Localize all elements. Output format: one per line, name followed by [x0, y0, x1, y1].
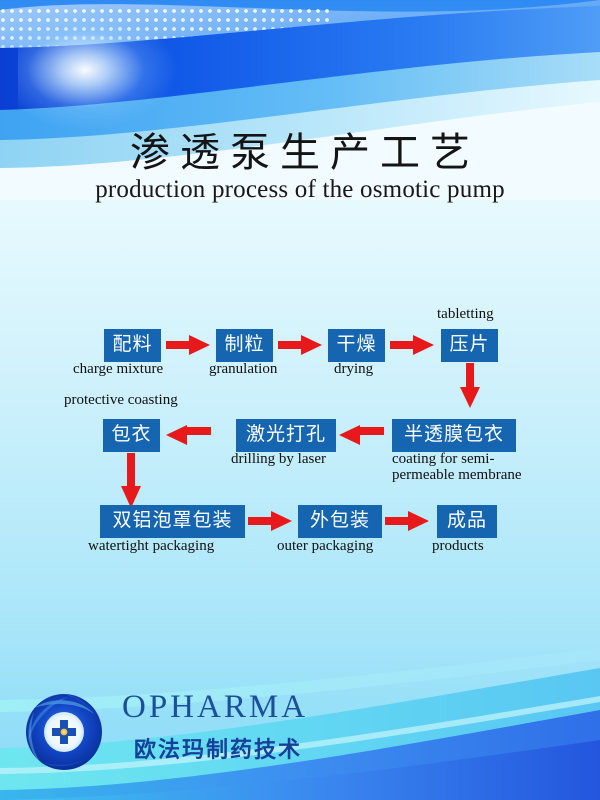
- caption-products: products: [432, 539, 484, 555]
- arrow-n8-n9: [248, 511, 292, 531]
- caption-charge-mixture: charge mixture: [73, 362, 163, 378]
- arrow-n5-n6: [339, 425, 384, 445]
- flow-node-drying[interactable]: 干燥: [328, 329, 385, 362]
- caption-protective-coating: protective coasting: [64, 393, 178, 409]
- arrow-n1-n2: [166, 335, 210, 355]
- caption-watertight-packaging: watertight packaging: [88, 539, 214, 555]
- flow-node-outer-packaging[interactable]: 外包装: [298, 505, 382, 538]
- flow-node-watertight-packaging[interactable]: 双铝泡罩包装: [100, 505, 245, 538]
- flow-node-granulation[interactable]: 制粒: [216, 329, 273, 362]
- caption-laser-drilling: drilling by laser: [231, 452, 326, 468]
- caption-outer-packaging: outer packaging: [277, 539, 373, 555]
- arrow-n2-n3: [278, 335, 322, 355]
- poster-canvas: 渗透泵生产工艺 production process of the osmoti…: [0, 0, 600, 800]
- caption-tabletting: tabletting: [437, 307, 494, 323]
- flow-node-products[interactable]: 成品: [437, 505, 497, 538]
- arrow-n4-n5: [460, 363, 480, 408]
- flow-node-tabletting[interactable]: 压片: [441, 329, 498, 362]
- brand-name-chinese: 欧法玛制药技术: [134, 732, 302, 764]
- flow-node-semipermeable-coating[interactable]: 半透膜包衣: [392, 419, 516, 452]
- caption-semipermeable-coating-line2: permeable membrane: [392, 468, 522, 484]
- caption-drying: drying: [334, 362, 373, 378]
- brand-name-english: OPHARMA: [122, 689, 308, 726]
- flow-node-protective-coating[interactable]: 包衣: [103, 419, 160, 452]
- swirl-ring-cross-logo-icon: [22, 690, 106, 774]
- arrow-n3-n4: [390, 335, 434, 355]
- flow-node-laser-drilling[interactable]: 激光打孔: [236, 419, 336, 452]
- brand-block: OPHARMA 欧法玛制药技术: [22, 690, 582, 770]
- caption-granulation: granulation: [209, 362, 277, 378]
- arrow-n6-n7: [166, 425, 211, 445]
- arrow-n7-n8: [121, 453, 141, 508]
- caption-semipermeable-coating-line1: coating for semi-: [392, 452, 494, 468]
- flow-node-charge-mixture[interactable]: 配料: [104, 329, 161, 362]
- arrow-n9-n10: [385, 511, 429, 531]
